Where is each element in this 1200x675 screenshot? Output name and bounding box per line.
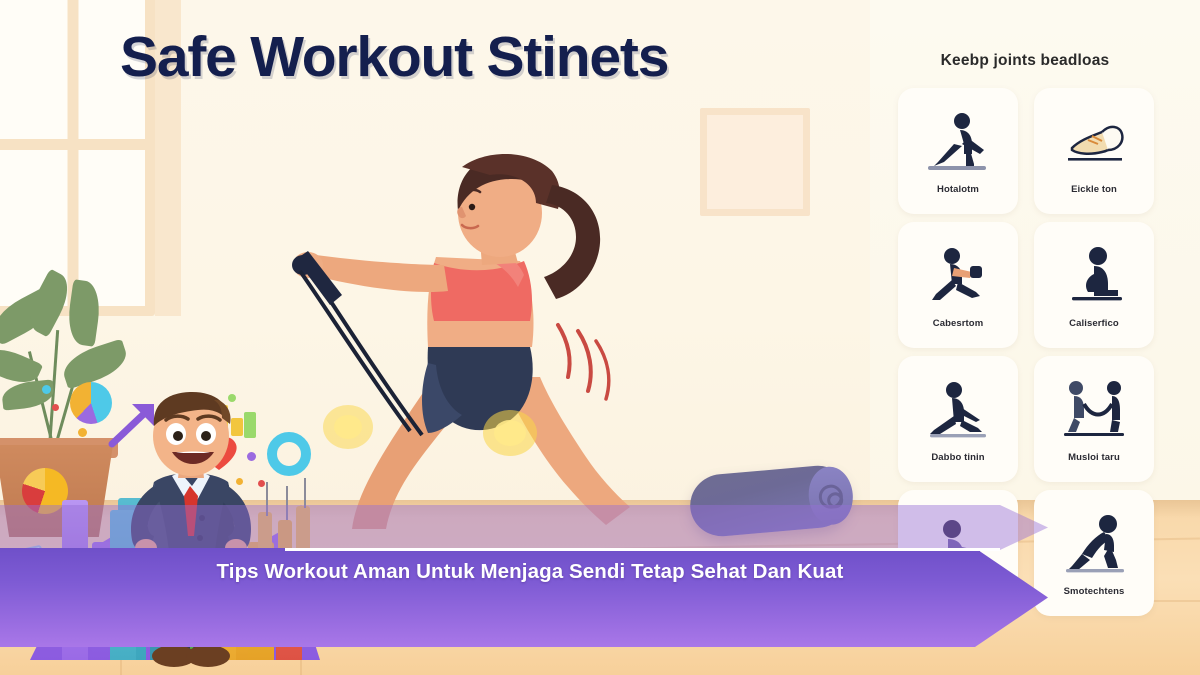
- panel-title: Keebp joints beadloas: [900, 52, 1150, 70]
- decor-dot: [52, 404, 59, 411]
- banner-overlay-strip: [0, 505, 1048, 550]
- exercise-card-label: Smotechtens: [1064, 586, 1125, 597]
- pie-chart-icon: [70, 382, 112, 424]
- partner-band-figure-icon: [1058, 378, 1130, 444]
- exercise-card-label: Cabesrtom: [933, 318, 984, 329]
- exercise-card[interactable]: Musloi taru: [1034, 356, 1154, 482]
- exercise-card[interactable]: Hotalotm: [898, 88, 1018, 214]
- exercise-card-label: Eickle ton: [1071, 184, 1117, 195]
- exercise-card[interactable]: Eickle ton: [1034, 88, 1154, 214]
- dumbbell-figure-icon: [922, 244, 994, 310]
- exercise-card-label: Dabbo tinin: [931, 452, 984, 463]
- exercise-card[interactable]: Cabesrtom: [898, 222, 1018, 348]
- lunge-figure-icon: [922, 110, 994, 176]
- side-stretch-figure-icon: [922, 378, 994, 444]
- banner-top-rule: [285, 548, 1000, 551]
- caption-text: Tips Workout Aman Untuk Menjaga Sendi Te…: [150, 558, 910, 586]
- exercise-card[interactable]: Caliserfico: [1034, 222, 1154, 348]
- exercise-card-label: Caliserfico: [1069, 318, 1119, 329]
- page-title: Safe Workout Stinets: [120, 28, 760, 88]
- exercise-card[interactable]: Smotechtens: [1034, 490, 1154, 616]
- exercise-card-label: Hotalotm: [937, 184, 979, 195]
- decor-dot: [42, 385, 51, 394]
- exercise-card-label: Musloi taru: [1068, 452, 1120, 463]
- forward-lunge-stretch-icon: [1058, 512, 1130, 578]
- exercise-card[interactable]: Dabbo tinin: [898, 356, 1018, 482]
- decor-dot: [78, 428, 87, 437]
- poster-canvas: Safe Workout Stinets: [0, 0, 1200, 675]
- wall-picture-frame-icon: [700, 108, 810, 216]
- sneaker-shoe-icon: [1058, 110, 1130, 176]
- chart-pin: [304, 478, 306, 508]
- activity-ring-icon: [267, 432, 311, 476]
- kneeling-figure-icon: [1058, 244, 1130, 310]
